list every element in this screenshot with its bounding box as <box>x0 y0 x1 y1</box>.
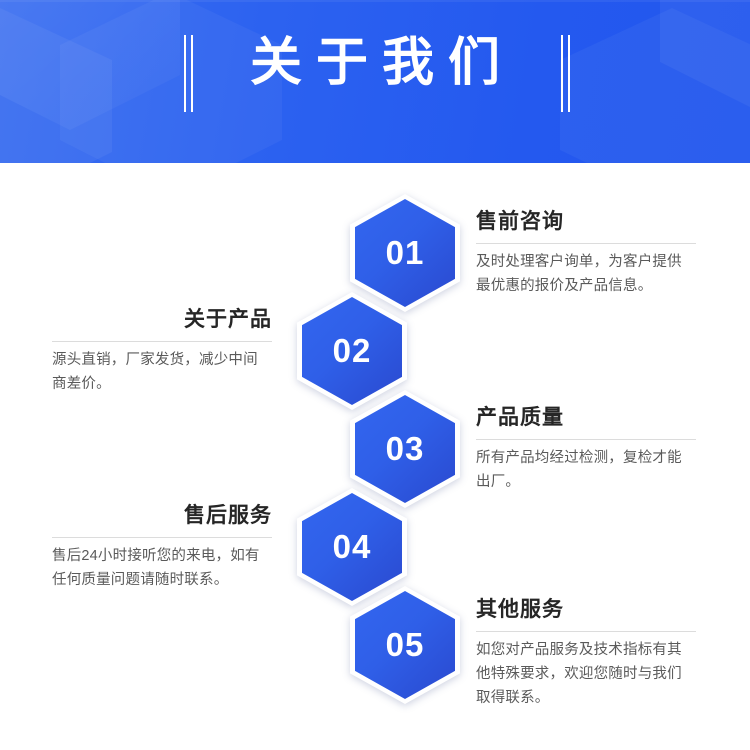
service-list: 01 售前咨询 及时处理客户询单，为客户提供最优惠的报价及产品信息。 02 关于… <box>0 163 750 750</box>
item-heading: 售前咨询 <box>476 208 696 236</box>
item-heading: 产品质量 <box>476 404 696 432</box>
item-text-block: 其他服务 如您对产品服务及技术指标有其他特殊要求，欢迎您随时与我们取得联系。 <box>476 596 696 710</box>
item-text-block: 关于产品 源头直销，厂家发货，减少中间商差价。 <box>52 306 272 396</box>
page-banner: 关于我们 <box>0 0 750 163</box>
item-body: 售后24小时接听您的来电，如有任何质量问题请随时联系。 <box>52 544 272 592</box>
decorative-line <box>568 35 570 112</box>
decorative-lines-right <box>561 35 573 112</box>
item-heading: 售后服务 <box>52 502 272 530</box>
item-text-block: 售后服务 售后24小时接听您的来电，如有任何质量问题请随时联系。 <box>52 502 272 592</box>
item-heading: 关于产品 <box>52 306 272 334</box>
item-divider <box>476 631 696 632</box>
decorative-line <box>561 35 563 112</box>
hexagon-badge-05: 05 <box>350 586 460 704</box>
item-text-block: 产品质量 所有产品均经过检测，复检才能出厂。 <box>476 404 696 494</box>
item-divider <box>476 243 696 244</box>
hexagon-number: 05 <box>350 586 460 704</box>
item-divider <box>476 439 696 440</box>
item-body: 源头直销，厂家发货，减少中间商差价。 <box>52 348 272 396</box>
item-body: 如您对产品服务及技术指标有其他特殊要求，欢迎您随时与我们取得联系。 <box>476 638 696 710</box>
item-heading: 其他服务 <box>476 596 696 624</box>
item-body: 及时处理客户询单，为客户提供最优惠的报价及产品信息。 <box>476 250 696 298</box>
page-title: 关于我们 <box>0 30 750 96</box>
list-item: 05 其他服务 如您对产品服务及技术指标有其他特殊要求，欢迎您随时与我们取得联系… <box>0 586 750 704</box>
item-body: 所有产品均经过检测，复检才能出厂。 <box>476 446 696 494</box>
item-divider <box>52 341 272 342</box>
item-divider <box>52 537 272 538</box>
about-us-page: 关于我们 01 售前咨询 及时处理客户询单，为客户提供最优惠的报价及产品信息。 <box>0 0 750 750</box>
item-text-block: 售前咨询 及时处理客户询单，为客户提供最优惠的报价及产品信息。 <box>476 208 696 298</box>
